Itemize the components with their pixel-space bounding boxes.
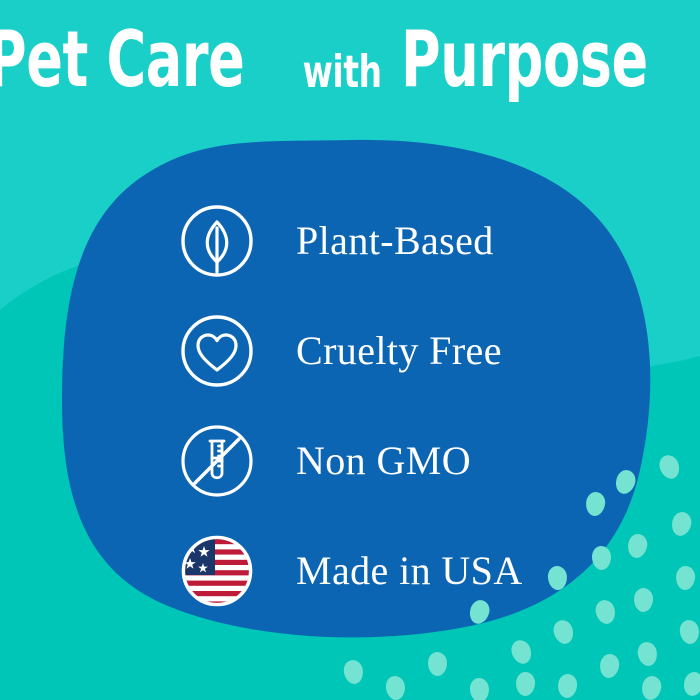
decorative-dot	[679, 619, 700, 645]
decorative-dot	[342, 659, 365, 686]
feature-row-made-in-usa: Made in USA	[178, 516, 608, 626]
feature-row-non-gmo: Non GMO	[178, 406, 608, 516]
feature-label-cruelty-free: Cruelty Free	[296, 331, 502, 371]
decorative-dot	[634, 588, 654, 613]
decorative-dot	[675, 565, 696, 591]
feature-label-made-in-usa: Made in USA	[296, 551, 523, 591]
heart-icon	[178, 312, 256, 390]
decorative-dot	[656, 452, 682, 481]
feature-list: Plant-Based Cruelty Free	[178, 186, 608, 626]
decorative-dot	[640, 674, 664, 700]
feature-label-non-gmo: Non GMO	[296, 441, 471, 481]
decorative-dot	[509, 638, 535, 667]
feature-row-cruelty-free: Cruelty Free	[178, 296, 608, 406]
decorative-dot	[636, 641, 659, 668]
decorative-dot	[681, 670, 700, 698]
decorative-dot	[669, 510, 693, 538]
decorative-dot	[626, 532, 649, 559]
leaf-icon	[178, 202, 256, 280]
feature-label-plant-based: Plant-Based	[296, 221, 494, 261]
usa-flag-icon	[178, 532, 256, 610]
decorative-dot	[598, 653, 621, 680]
decorative-dot	[557, 673, 578, 699]
decorative-dot	[428, 652, 447, 676]
feature-row-plant-based: Plant-Based	[178, 186, 608, 296]
promo-graphic: Pet Care with Purpose ® Plant-Based	[0, 0, 700, 700]
decorative-dot	[515, 672, 535, 697]
decorative-dot	[385, 675, 406, 700]
decorative-dot	[469, 678, 489, 700]
decorative-dot	[613, 468, 638, 497]
no-gmo-icon	[178, 422, 256, 500]
